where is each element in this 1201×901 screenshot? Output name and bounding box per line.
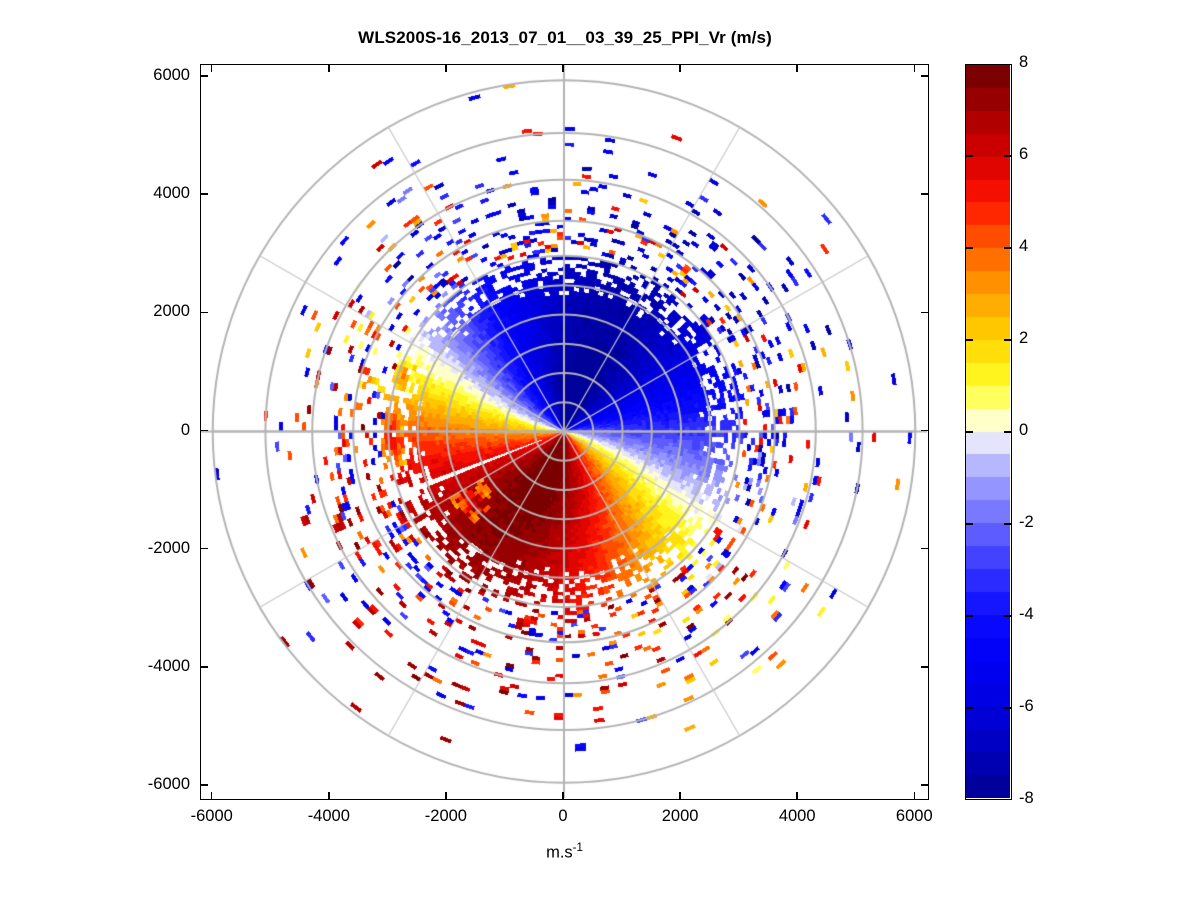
x-tick-mark <box>914 792 916 799</box>
x-tick-mark <box>562 792 564 799</box>
colorbar-tick-mark-right <box>1004 615 1011 617</box>
x-tick-mark-top <box>796 65 798 72</box>
colorbar-tick-mark-right <box>1004 155 1011 157</box>
page-title: WLS200S-16_2013_07_01__03_39_25_PPI_Vr (… <box>0 28 1130 48</box>
ppi-radial-velocity-canvas[interactable] <box>201 65 927 798</box>
colorbar-tick-label: 6 <box>1019 145 1028 164</box>
y-tick-label: 6000 <box>70 66 190 85</box>
y-tick-mark <box>201 784 208 786</box>
y-tick-label: 4000 <box>70 184 190 203</box>
colorbar-tick-mark <box>966 431 973 433</box>
colorbar-tick-label: -4 <box>1019 605 1034 624</box>
colorbar-tick-mark <box>966 247 973 249</box>
colorbar-tick-label: 0 <box>1019 421 1028 440</box>
x-tick-mark-top <box>445 65 447 72</box>
colorbar-tick-label: -8 <box>1019 789 1034 808</box>
colorbar-tick-mark <box>966 707 973 709</box>
y-tick-mark-right <box>921 193 928 195</box>
colorbar-tick-mark-right <box>1004 339 1011 341</box>
colorbar-tick-label: 2 <box>1019 329 1028 348</box>
x-tick-mark <box>328 792 330 799</box>
x-tick-label: 0 <box>503 807 623 826</box>
colorbar-tick-mark <box>966 155 973 157</box>
y-tick-mark-right <box>921 548 928 550</box>
colorbar-tick-label: 8 <box>1019 53 1028 72</box>
y-tick-label: 2000 <box>70 302 190 321</box>
x-tick-label: -6000 <box>152 807 272 826</box>
x-tick-label: -2000 <box>386 807 506 826</box>
y-tick-mark-right <box>921 312 928 314</box>
colorbar-tick-mark-right <box>1004 247 1011 249</box>
x-tick-mark <box>445 792 447 799</box>
colorbar-tick-mark <box>966 523 973 525</box>
x-tick-label: -4000 <box>269 807 389 826</box>
x-tick-mark <box>211 792 213 799</box>
colorbar-tick-mark-right <box>1004 523 1011 525</box>
y-tick-label: 0 <box>70 421 190 440</box>
colorbar-tick-mark-right <box>1004 707 1011 709</box>
x-tick-mark-top <box>562 65 564 72</box>
x-axis-label: m.s-1 <box>200 842 929 863</box>
x-tick-mark <box>679 792 681 799</box>
x-tick-mark-top <box>211 65 213 72</box>
y-tick-label: -6000 <box>70 775 190 794</box>
x-axis-label-exponent: -1 <box>573 842 583 854</box>
x-tick-mark-top <box>328 65 330 72</box>
polar-plot-area[interactable] <box>200 64 929 800</box>
y-tick-label: -4000 <box>70 657 190 676</box>
y-tick-mark-right <box>921 666 928 668</box>
x-tick-label: 2000 <box>620 807 740 826</box>
x-tick-label: 6000 <box>854 807 974 826</box>
y-tick-mark-right <box>921 430 928 432</box>
figure-root: WLS200S-16_2013_07_01__03_39_25_PPI_Vr (… <box>0 0 1201 901</box>
y-tick-mark <box>201 430 208 432</box>
y-tick-mark <box>201 312 208 314</box>
colorbar-tick-label: 4 <box>1019 237 1028 256</box>
x-tick-mark-top <box>679 65 681 72</box>
y-tick-mark <box>201 75 208 77</box>
y-tick-label: -2000 <box>70 539 190 558</box>
colorbar-tick-mark-right <box>1004 431 1011 433</box>
y-tick-mark-right <box>921 784 928 786</box>
x-tick-label: 4000 <box>737 807 857 826</box>
y-tick-mark <box>201 548 208 550</box>
y-tick-mark <box>201 666 208 668</box>
y-tick-mark-right <box>921 75 928 77</box>
x-tick-mark <box>796 792 798 799</box>
colorbar-tick-label: -2 <box>1019 513 1034 532</box>
colorbar-tick-label: -6 <box>1019 697 1034 716</box>
colorbar-tick-mark <box>966 339 973 341</box>
colorbar-tick-mark <box>966 615 973 617</box>
y-tick-mark <box>201 193 208 195</box>
x-tick-mark-top <box>914 65 916 72</box>
